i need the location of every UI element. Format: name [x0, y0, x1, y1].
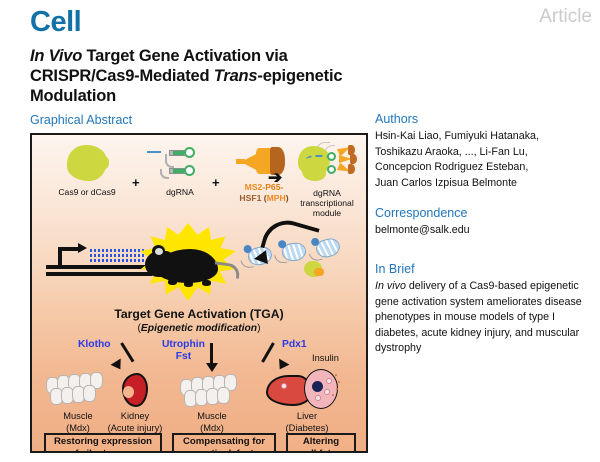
correspondence-heading: Correspondence — [375, 206, 597, 220]
correspondence-email[interactable]: belmonte@salk.edu — [375, 223, 597, 239]
authors-line-2: Toshikazu Araoka, ..., Li-Fan Lu, — [375, 145, 597, 161]
in-brief-heading: In Brief — [375, 262, 597, 276]
authors-heading: Authors — [375, 112, 597, 126]
outcome-compensating-line1: Compensating for — [183, 436, 265, 447]
cas9-component: Cas9 or dCas9 — [44, 145, 130, 197]
dgrna-module-icon — [298, 143, 356, 185]
mph-label-abbrev: MPH — [267, 193, 286, 203]
graphical-abstract-heading: Graphical Abstract — [30, 113, 132, 127]
mph-label-ms2: MS2 — [245, 182, 263, 192]
dgrna-icon — [158, 145, 202, 183]
page-root: Cell Article In Vivo Target Gene Activat… — [0, 0, 600, 462]
outcome-restoring-line1: Restoring expression — [54, 436, 152, 447]
graphical-abstract-panel: Cas9 or dCas9 + — [30, 133, 368, 453]
dgrna-component: dgRNA — [144, 145, 216, 197]
mph-label-hsf1: HSF1 — [239, 193, 263, 203]
cell-journal-logo: Cell — [30, 8, 81, 37]
tga-title: Target Gene Activation (TGA) — [32, 307, 366, 321]
page-title: In Vivo Target Gene Activation via CRISP… — [30, 46, 380, 106]
organ-label-liver: Liver (Diabetes) — [264, 411, 350, 434]
cas9-label: Cas9 or dCas9 — [44, 187, 130, 197]
gene-label-utrophin-fst: Utrophin Fst — [162, 339, 205, 363]
title-italic-in-vivo: In Vivo — [30, 47, 82, 65]
outcome-restoring-line2: of silent genes — [69, 448, 136, 453]
plus-sign-1: + — [132, 175, 140, 190]
title-italic-trans: Trans — [214, 67, 258, 85]
outcome-box-compensating: Compensating for genetic defects — [172, 433, 276, 453]
title-line2-pre: Mediated — [139, 67, 213, 85]
module-label-line1: dgRNA — [313, 188, 341, 198]
kidney-icon — [122, 373, 148, 407]
gene-label-klotho: Klotho — [78, 339, 111, 351]
in-brief-rest: delivery of a Cas9-based epigenetic gene… — [375, 280, 582, 354]
organ-liver-line2: (Diabetes) — [286, 423, 329, 433]
muscle-fibers-icon-mid — [180, 377, 242, 407]
plus-sign-2: + — [212, 175, 220, 190]
cas9-protein-icon — [67, 145, 107, 181]
dna-transcription-icon — [46, 243, 152, 279]
gene-label-pdx1: Pdx1 — [282, 339, 307, 351]
authors-line-3: Concepcion Rodriguez Esteban, — [375, 160, 597, 176]
in-brief-italic-lead: In vivo — [375, 280, 406, 292]
gene-label-utrophin: Utrophin — [162, 339, 205, 350]
organ-kidney-line1: Kidney — [121, 411, 149, 421]
organ-liver-line1: Liver — [297, 411, 317, 421]
organ-kidney-line2: (Acute injury) — [108, 423, 163, 433]
authors-block: Authors Hsin-Kai Liao, Fumiyuki Hatanaka… — [375, 112, 597, 191]
organ-label-kidney: Kidney (Acute injury) — [98, 411, 172, 434]
in-brief-text: In vivo delivery of a Cas9-based epigene… — [375, 279, 597, 357]
rna-transcript-icon — [90, 249, 148, 265]
organ-label-muscle-mid: Muscle (Mdx) — [174, 411, 250, 434]
tga-sub-italic: Epigenetic modification — [141, 323, 257, 334]
module-label-line3: module — [313, 208, 341, 218]
muscle-fibers-icon-left — [46, 375, 108, 405]
organ-muscle-left-line1: Muscle — [63, 411, 92, 421]
authors-line-1: Hsin-Kai Liao, Fumiyuki Hatanaka, — [375, 129, 597, 145]
insulin-label: Insulin — [312, 353, 339, 363]
authors-line-4: Juan Carlos Izpisua Belmonte — [375, 176, 597, 192]
dgrna-transcriptional-module-component: dgRNA transcriptional module — [286, 143, 368, 218]
aav-particle-icon — [314, 236, 342, 259]
figure-row-invivo — [32, 221, 366, 307]
dgrna-label: dgRNA — [144, 187, 216, 197]
outcome-box-restoring: Restoring expression of silent genes — [44, 433, 162, 453]
organ-muscle-left-line2: (Mdx) — [66, 423, 90, 433]
outcome-altering-line1: Altering — [303, 436, 339, 447]
module-label: dgRNA transcriptional module — [286, 188, 368, 218]
in-brief-block: In Brief In vivo delivery of a Cas9-base… — [375, 262, 597, 357]
outcome-box-altering: Altering cell fates — [286, 433, 356, 453]
tga-sub-close: ) — [257, 323, 260, 334]
figure-row-components: Cas9 or dCas9 + — [32, 139, 366, 225]
organ-muscle-mid-line2: (Mdx) — [200, 423, 224, 433]
tga-subtitle: (Epigenetic modification) — [32, 323, 366, 334]
outcome-compensating-line2: genetic defects — [189, 448, 259, 453]
correspondence-block: Correspondence belmonte@salk.edu — [375, 206, 597, 239]
transformation-arrow-icon: ➔ — [268, 169, 282, 186]
outcome-altering-line2: cell fates — [300, 448, 341, 453]
article-type-label: Article — [539, 6, 592, 28]
gene-label-fst: Fst — [176, 351, 191, 362]
organ-muscle-mid-line1: Muscle — [197, 411, 226, 421]
module-label-line2: transcriptional — [300, 198, 354, 208]
